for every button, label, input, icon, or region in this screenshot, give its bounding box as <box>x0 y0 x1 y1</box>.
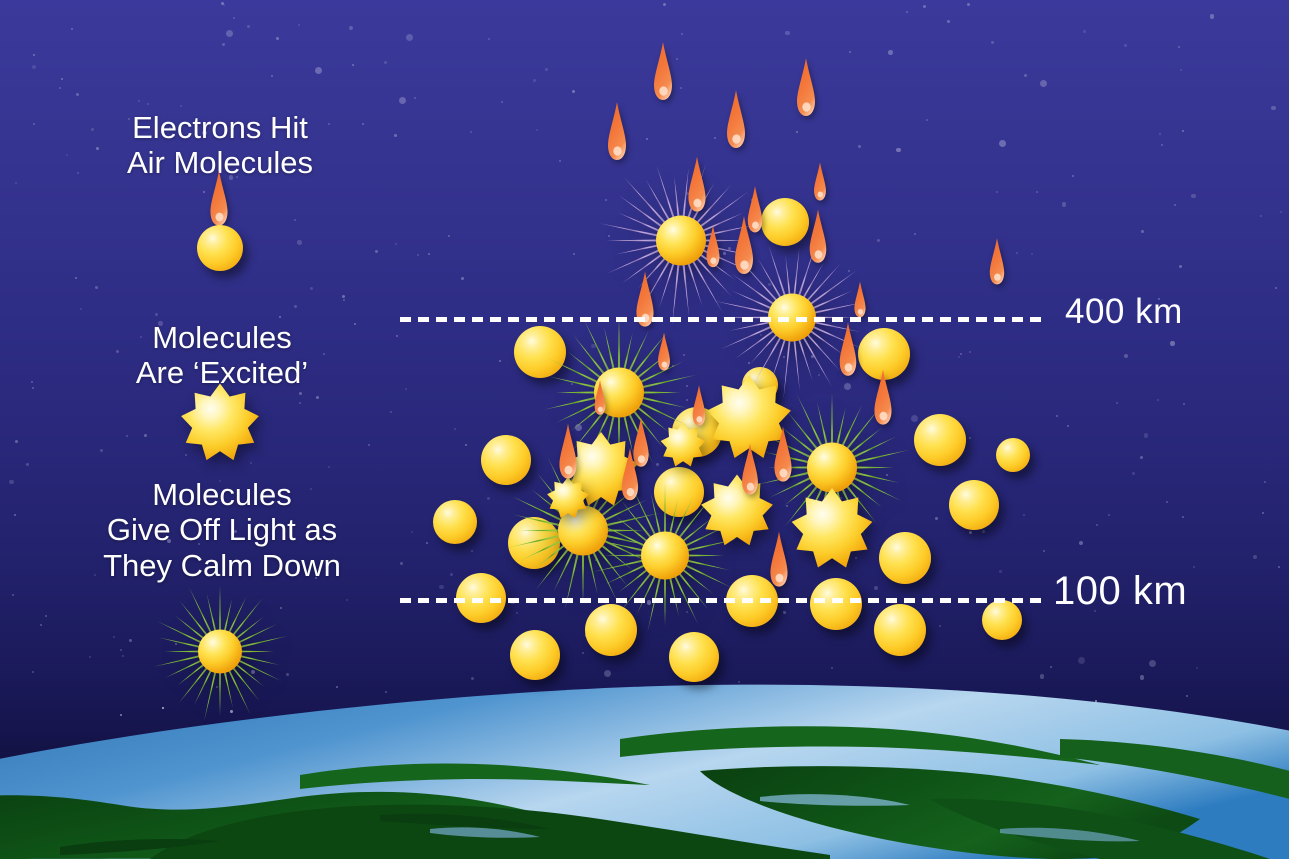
star-dot <box>279 316 281 318</box>
star-dot <box>850 749 857 756</box>
star-dot <box>310 287 313 290</box>
star-dot <box>969 437 971 439</box>
star-dot <box>1124 354 1129 359</box>
star-dot <box>969 351 971 353</box>
star-dot <box>591 344 596 349</box>
legend-emitting-molecule-sun-icon <box>149 581 291 728</box>
star-dot <box>298 24 300 26</box>
star-dot <box>230 710 233 713</box>
air-molecule-sphere <box>982 600 1022 640</box>
air-molecule-sphere <box>914 414 966 466</box>
air-molecule-sphere <box>810 578 862 630</box>
star-dot <box>522 702 524 704</box>
star-dot <box>826 690 829 693</box>
star-dot <box>61 78 63 80</box>
air-molecule-sphere <box>858 328 910 380</box>
star-dot <box>728 247 731 250</box>
air-molecule-sphere <box>514 326 566 378</box>
star-dot <box>461 277 464 280</box>
star-dot <box>751 199 753 201</box>
star-dot <box>585 634 588 637</box>
air-molecule-sphere <box>510 630 560 680</box>
star-dot <box>1140 456 1143 459</box>
star-dot <box>1116 402 1118 404</box>
star-dot <box>195 813 197 815</box>
star-dot <box>1124 44 1127 47</box>
star-dot <box>238 434 243 439</box>
star-dot <box>831 667 833 669</box>
excited-molecule-star <box>700 474 774 548</box>
star-dot <box>848 270 850 272</box>
star-dot <box>390 411 392 413</box>
air-molecule-sphere <box>585 604 637 656</box>
star-dot <box>237 799 239 801</box>
star-dot <box>545 68 548 71</box>
star-dot <box>463 767 466 770</box>
star-dot <box>886 474 888 476</box>
star-dot <box>672 365 674 367</box>
altitude-line-400-km <box>400 317 1042 322</box>
star-dot <box>1140 675 1145 680</box>
electron-teardrop <box>727 215 761 277</box>
star-dot <box>224 673 227 676</box>
star-dot <box>686 385 688 387</box>
star-dot <box>849 51 851 53</box>
excited-molecule-star <box>546 476 589 519</box>
excited-molecule-star <box>790 487 874 571</box>
star-dot <box>652 567 655 570</box>
electron-teardrop <box>681 156 713 215</box>
star-dot <box>892 356 894 358</box>
star-dot <box>299 392 302 395</box>
star-dot <box>818 374 820 376</box>
star-dot <box>488 38 490 40</box>
star-dot <box>26 463 29 466</box>
star-dot <box>294 305 297 308</box>
electron-teardrop <box>735 443 765 498</box>
star-dot <box>926 119 928 121</box>
star-dot <box>840 497 842 499</box>
star-dot <box>1170 341 1175 346</box>
star-dot <box>1278 566 1280 568</box>
star-dot <box>804 219 806 221</box>
star-dot <box>226 30 233 37</box>
emitting-molecule-green-sun <box>588 479 742 638</box>
star-dot <box>906 11 908 13</box>
electron-teardrop <box>763 531 795 590</box>
star-dot <box>147 103 149 105</box>
star-dot <box>904 348 906 350</box>
star-dot <box>12 594 14 596</box>
star-dot <box>859 284 861 286</box>
star-dot <box>1179 265 1182 268</box>
star-dot <box>316 396 319 399</box>
emitting-molecule-green-sun <box>752 388 912 553</box>
star-dot <box>588 777 590 779</box>
legend-air-molecule-sphere-icon <box>197 225 243 271</box>
star-dot <box>1132 472 1135 475</box>
star-dot <box>1153 726 1156 729</box>
electron-teardrop <box>809 162 831 203</box>
star-dot <box>414 97 416 99</box>
star-dot <box>1186 695 1188 697</box>
air-molecule-sphere <box>761 198 809 246</box>
star-dot <box>996 191 998 193</box>
electron-teardrop <box>849 281 870 319</box>
star-dot <box>573 253 575 255</box>
star-dot <box>1040 80 1047 87</box>
star-dot <box>1020 758 1022 760</box>
star-dot <box>1016 252 1018 254</box>
star-dot <box>874 586 879 591</box>
star-dot <box>1271 106 1276 111</box>
electron-teardrop <box>789 57 823 119</box>
emitting-molecule-green-sun <box>539 313 699 478</box>
star-dot <box>969 531 972 534</box>
star-dot <box>185 454 187 456</box>
excited-molecule-star <box>706 375 793 462</box>
star-dot <box>539 345 544 350</box>
star-dot <box>875 689 878 692</box>
electron-teardrop <box>741 185 768 235</box>
star-dot <box>95 286 98 289</box>
air-molecule-sphere <box>508 517 560 569</box>
star-dot <box>138 100 140 102</box>
star-dot <box>1210 14 1215 19</box>
star-dot <box>896 148 901 153</box>
star-dot <box>892 794 895 797</box>
star-dot <box>1067 425 1069 427</box>
star-dot <box>240 734 242 736</box>
star-dot <box>32 671 34 673</box>
star-dot <box>216 686 218 688</box>
star-dot <box>1183 403 1185 405</box>
electron-teardrop <box>802 208 833 265</box>
star-dot <box>1079 541 1084 546</box>
star-dot <box>343 299 345 301</box>
star-dot <box>221 2 224 5</box>
star-dot <box>251 670 256 675</box>
star-dot <box>1036 191 1038 193</box>
star-dot <box>175 643 177 645</box>
electron-teardrop <box>719 89 753 151</box>
altitude-line-100-km <box>400 598 1042 603</box>
star-dot <box>1216 777 1218 779</box>
air-molecule-sphere <box>672 407 722 457</box>
star-dot <box>681 33 683 35</box>
star-dot <box>100 449 103 452</box>
star-dot <box>960 353 962 355</box>
star-dot <box>958 356 960 358</box>
star-dot <box>80 308 82 310</box>
star-dot <box>1193 566 1195 568</box>
star-dot <box>685 748 687 750</box>
star-dot <box>924 558 931 565</box>
star-dot <box>129 639 132 642</box>
star-dot <box>1095 700 1097 702</box>
star-dot <box>1166 501 1168 503</box>
altitude-label-400-km: 400 km <box>1065 292 1183 332</box>
star-dot <box>1144 433 1149 438</box>
star-dot <box>683 659 685 661</box>
caption-molecules-excited: Molecules Are ‘Excited’ <box>0 320 444 391</box>
star-dot <box>155 313 158 316</box>
star-dot <box>417 254 419 256</box>
star-dot <box>352 64 354 66</box>
star-dot <box>1157 399 1159 401</box>
star-dot <box>595 559 597 561</box>
star-dot <box>888 50 893 55</box>
star-dot <box>1270 736 1272 738</box>
star-dot <box>271 75 273 77</box>
star-dot <box>471 550 473 552</box>
star-dot <box>1043 550 1045 552</box>
star-dot <box>1260 215 1262 217</box>
star-dot <box>572 90 575 93</box>
star-dot <box>809 522 811 524</box>
electron-teardrop <box>653 332 675 373</box>
star-dot <box>605 199 607 201</box>
star-dot <box>1040 674 1045 679</box>
star-dot <box>45 615 47 617</box>
excited-molecule-star <box>660 422 707 469</box>
star-dot <box>89 656 91 658</box>
air-molecule-sphere <box>669 632 719 682</box>
star-dot <box>120 714 122 716</box>
star-dot <box>1196 667 1198 669</box>
electron-teardrop <box>627 417 656 470</box>
star-dot <box>1280 211 1282 213</box>
star-dot <box>40 624 42 626</box>
star-dot <box>768 283 771 286</box>
star-dot <box>947 20 950 23</box>
star-dot <box>299 402 301 404</box>
aurora-illustration: 400 km100 km Electrons Hit Air Molecules… <box>0 0 1289 859</box>
star-dot <box>783 356 785 358</box>
star-dot <box>470 131 472 133</box>
star-dot <box>336 686 338 688</box>
star-dot <box>193 775 195 777</box>
star-dot <box>811 355 814 358</box>
star-dot <box>923 5 926 8</box>
air-molecule-sphere <box>654 467 704 517</box>
electron-teardrop <box>983 237 1010 287</box>
star-dot <box>593 549 596 552</box>
star-dot <box>785 31 790 36</box>
star-dot <box>919 441 922 444</box>
star-dot <box>939 625 941 627</box>
star-dot <box>1050 666 1052 668</box>
star-dot <box>612 768 615 771</box>
star-dot <box>1159 133 1161 135</box>
star-dot <box>663 3 666 6</box>
electron-teardrop <box>867 369 899 428</box>
star-dot <box>247 25 250 28</box>
star-dot <box>1028 747 1031 750</box>
star-dot <box>230 819 232 821</box>
star-dot <box>1141 230 1144 233</box>
star-dot <box>1178 46 1180 48</box>
star-dot <box>120 649 122 651</box>
star-dot <box>1093 782 1098 787</box>
star-dot <box>964 437 966 439</box>
star-dot <box>783 611 786 614</box>
star-dot <box>490 441 492 443</box>
star-dot <box>15 182 17 184</box>
star-dot <box>858 145 861 148</box>
electron-teardrop <box>701 225 725 270</box>
star-dot <box>680 87 682 89</box>
star-dot <box>222 43 225 46</box>
star-dot <box>501 101 503 103</box>
star-dot <box>991 41 994 44</box>
star-dot <box>652 697 654 699</box>
excited-molecule-star <box>562 431 640 509</box>
star-dot <box>1072 175 1074 177</box>
star-dot <box>1056 415 1058 417</box>
star-dot <box>384 61 387 64</box>
electron-teardrop <box>590 379 610 416</box>
star-dot <box>162 707 164 709</box>
star-dot <box>487 497 490 500</box>
air-molecule-sphere <box>742 367 778 403</box>
star-dot <box>911 415 918 422</box>
electron-teardrop <box>615 447 646 503</box>
star-dot <box>608 235 610 237</box>
star-dot <box>786 505 788 507</box>
star-dot <box>726 516 731 521</box>
star-dot <box>516 612 518 614</box>
star-dot <box>737 781 744 788</box>
star-dot <box>315 67 322 74</box>
star-dot <box>385 691 387 693</box>
star-dot <box>604 670 611 677</box>
air-molecule-sphere <box>879 532 931 584</box>
star-dot <box>844 383 851 390</box>
star-dot <box>226 405 228 407</box>
star-dot <box>797 693 799 695</box>
star-dot <box>269 783 271 785</box>
star-dot <box>591 782 593 784</box>
star-dot <box>723 252 726 255</box>
star-dot <box>918 756 920 758</box>
star-dot <box>368 444 370 446</box>
star-dot <box>375 250 378 253</box>
emitting-molecule-green-sun <box>503 451 663 616</box>
star-dot <box>923 453 925 455</box>
star-dot <box>738 681 740 683</box>
star-dot <box>75 277 77 279</box>
star-dot <box>880 717 883 720</box>
star-dot <box>748 362 750 364</box>
star-dot <box>878 720 881 723</box>
star-dot <box>760 334 762 336</box>
star-dot <box>1191 194 1196 199</box>
star-dot <box>399 97 406 104</box>
star-dot <box>878 364 881 367</box>
star-dot <box>454 428 456 430</box>
electron-teardrop <box>600 101 634 163</box>
star-dot <box>1174 204 1176 206</box>
star-dot <box>1161 144 1163 146</box>
star-dot <box>32 65 37 70</box>
star-dot <box>15 440 18 443</box>
star-dot <box>582 652 584 654</box>
star-dot <box>883 693 885 695</box>
star-dot <box>716 775 721 780</box>
earth-surface <box>0 679 1289 859</box>
star-dot <box>686 611 688 613</box>
star-dot <box>1262 512 1264 514</box>
star-dot <box>877 239 880 242</box>
star-dot <box>613 543 615 545</box>
star-dot <box>33 54 35 56</box>
star-dot <box>359 720 362 723</box>
star-dot <box>349 26 354 31</box>
star-dot <box>533 79 536 82</box>
star-dot <box>286 673 289 676</box>
star-dot <box>1017 727 1022 732</box>
emitting-molecule-purple-sun <box>597 157 765 330</box>
star-dot <box>450 573 453 576</box>
star-dot <box>663 560 666 563</box>
star-dot <box>1078 657 1085 664</box>
star-dot <box>25 785 28 788</box>
star-dot <box>549 668 551 670</box>
star-dot <box>714 137 716 139</box>
star-dot <box>578 739 581 742</box>
star-dot <box>1024 74 1027 77</box>
star-dot <box>1031 253 1033 255</box>
legend-excited-molecule-star-icon <box>180 383 261 464</box>
star-dot <box>683 354 685 356</box>
star-dot <box>676 58 678 60</box>
star-dot <box>855 557 857 559</box>
star-dot <box>144 434 147 437</box>
star-dot <box>575 424 582 431</box>
star-dot <box>935 517 938 520</box>
electron-teardrop <box>646 41 680 103</box>
star-dot <box>939 450 941 452</box>
star-dot <box>126 435 128 437</box>
star-dot <box>406 34 413 41</box>
star-dot <box>741 508 744 511</box>
star-dot <box>918 646 920 648</box>
air-molecule-sphere <box>996 438 1030 472</box>
air-molecule-sphere <box>481 435 531 485</box>
star-dot <box>1111 793 1113 795</box>
star-dot <box>982 530 985 533</box>
earth-graphic <box>0 679 1289 859</box>
caption-molecules-give-off-light: Molecules Give Off Light as They Calm Do… <box>0 477 444 583</box>
star-dot <box>201 666 203 668</box>
star-dot <box>122 655 124 657</box>
star-dot <box>297 240 302 245</box>
star-dot <box>686 192 689 195</box>
star-dot <box>999 140 1006 147</box>
star-dot <box>686 399 688 401</box>
star-dot <box>656 463 659 466</box>
electron-teardrop <box>687 384 711 427</box>
star-dot <box>76 93 79 96</box>
star-dot <box>395 243 397 245</box>
star-dot <box>448 235 450 237</box>
electron-teardrop <box>767 426 799 485</box>
earth-atmosphere-rim <box>0 689 1289 789</box>
star-dot <box>280 607 282 609</box>
star-dot <box>684 218 691 225</box>
caption-electrons-hit: Electrons Hit Air Molecules <box>0 110 440 181</box>
